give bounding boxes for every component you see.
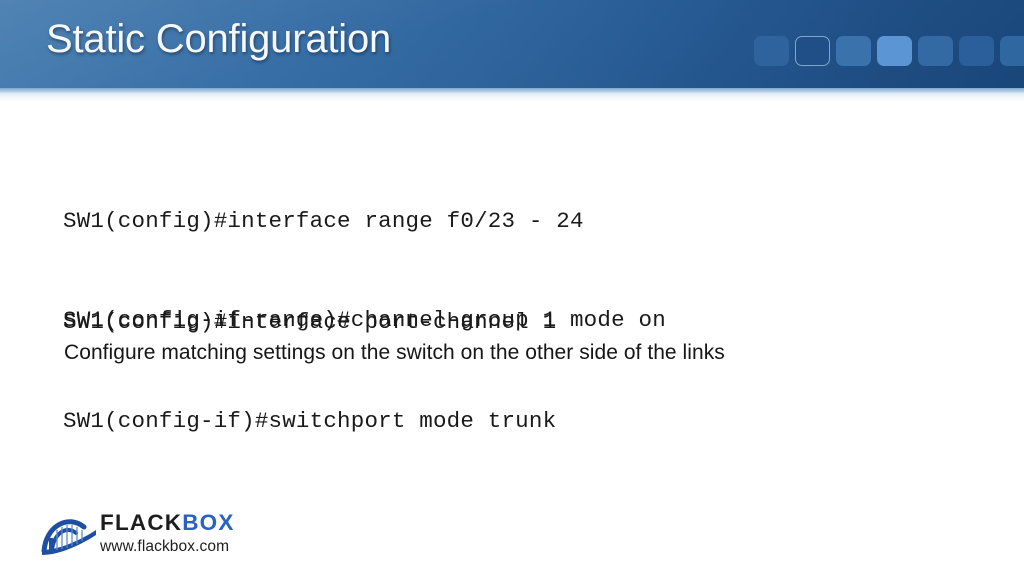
logo-text-group: FLACKBOX www.flackbox.com — [100, 511, 260, 556]
cli-line: SW1(config-if)#switchport mode trunk — [63, 405, 556, 438]
header-square-3 — [836, 36, 871, 66]
header-square-7 — [1000, 36, 1024, 66]
cli-line: SW1(config)#interface range f0/23 - 24 — [63, 205, 666, 238]
header-fade — [0, 93, 1024, 102]
header-decoration-squares — [754, 36, 1024, 66]
header-square-5 — [918, 36, 953, 66]
logo-wordmark: FLACKBOX — [100, 511, 260, 535]
logo-url: www.flackbox.com — [100, 537, 260, 556]
logo-word-flack: FLACK — [100, 510, 182, 535]
header-square-4 — [877, 36, 912, 66]
slide-canvas: Static Configuration SW1(config)#interfa… — [0, 0, 1024, 576]
header-square-2 — [795, 36, 830, 66]
body-note-text: Configure matching settings on the switc… — [64, 341, 725, 365]
page-title: Static Configuration — [46, 17, 391, 62]
logo-word-box: BOX — [182, 510, 234, 535]
bridge-arch-icon — [40, 510, 98, 558]
header-square-6 — [959, 36, 994, 66]
flackbox-logo: FLACKBOX www.flackbox.com — [40, 505, 260, 563]
header-square-1 — [754, 36, 789, 66]
cli-line: SW1(config)#interface port-channel 1 — [63, 306, 556, 339]
cli-code-block-2: SW1(config)#interface port-channel 1 SW1… — [63, 240, 556, 504]
